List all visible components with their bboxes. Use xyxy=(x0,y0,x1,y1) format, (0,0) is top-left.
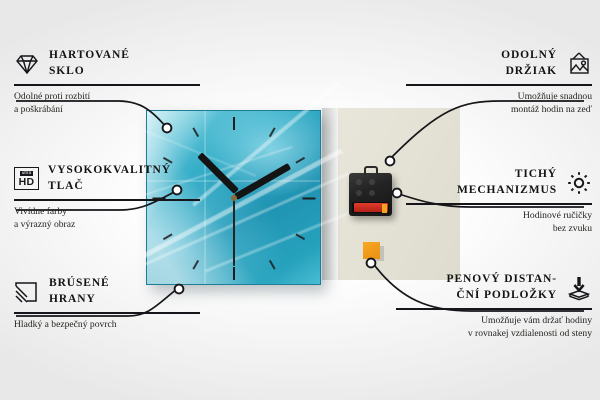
feature-title: VYSOKOKVALITNÝ TLAČ xyxy=(48,163,171,194)
feature-divider xyxy=(406,203,592,205)
connector-dot-tempered-glass xyxy=(163,124,172,133)
feature-description: Hladký a bezpečný povrch xyxy=(14,318,200,331)
feature-title: BRÚSENÉ HRANY xyxy=(49,276,110,307)
feature-ground-edges: BRÚSENÉ HRANY Hladký a bezpečný povrch xyxy=(14,276,200,331)
feature-description: Hodinové ručičky bez zvuku xyxy=(406,209,592,235)
feature-high-quality-print: ultra HD VYSOKOKVALITNÝ TLAČ Vivídne far… xyxy=(14,163,200,231)
feature-description: Umožňuje vám držať hodiny v rovnakej vzd… xyxy=(396,314,592,340)
picture-frame-hanging-icon xyxy=(566,51,592,77)
feature-durable-hanger: ODOLNÝ DRŽIAK Umožňuje snadnou montáž ho… xyxy=(406,48,592,116)
connector-dot-mechanism xyxy=(393,189,402,198)
feature-description: Vivídne farby a výrazný obraz xyxy=(14,205,200,231)
feature-header: BRÚSENÉ HRANY xyxy=(14,276,200,307)
feature-title: TICHÝ MECHANIZMUS xyxy=(457,167,557,198)
feature-header: ODOLNÝ DRŽIAK xyxy=(406,48,592,79)
feature-divider xyxy=(14,199,200,201)
feature-divider xyxy=(14,312,200,314)
feature-silent-mechanism: TICHÝ MECHANIZMUS Hodinové ručičky bez z… xyxy=(406,167,592,235)
feature-header: ultra HD VYSOKOKVALITNÝ TLAČ xyxy=(14,163,200,194)
gear-icon xyxy=(566,170,592,196)
feature-title: ODOLNÝ DRŽIAK xyxy=(501,48,557,79)
feature-description: Umožňuje snadnou montáž hodin na zeď xyxy=(406,90,592,116)
feature-header: HARTOVANÉ SKLO xyxy=(14,48,200,79)
feature-header: TICHÝ MECHANIZMUS xyxy=(406,167,592,198)
feature-foam-spacers: PENOVÝ DISTAN- ČNÍ PODLOŽKY Umožňuje vám… xyxy=(396,272,592,340)
feature-tempered-glass: HARTOVANÉ SKLO Odolné proti rozbití a po… xyxy=(14,48,200,116)
feature-description: Odolné proti rozbití a poškrábání xyxy=(14,90,200,116)
feature-title: PENOVÝ DISTAN- ČNÍ PODLOŽKY xyxy=(447,272,557,303)
arrow-down-stack-icon xyxy=(566,275,592,301)
feature-divider xyxy=(406,84,592,86)
feature-divider xyxy=(14,84,200,86)
diamond-icon xyxy=(14,51,40,77)
ultra-hd-badge-icon: ultra HD xyxy=(14,167,39,190)
feature-divider xyxy=(396,308,592,310)
feature-header: PENOVÝ DISTAN- ČNÍ PODLOŽKY xyxy=(396,272,592,303)
connector-dot-foam xyxy=(367,259,376,268)
ground-edges-icon xyxy=(14,279,40,305)
feature-title: HARTOVANÉ SKLO xyxy=(49,48,130,79)
connector-dot-hanger xyxy=(386,157,395,166)
